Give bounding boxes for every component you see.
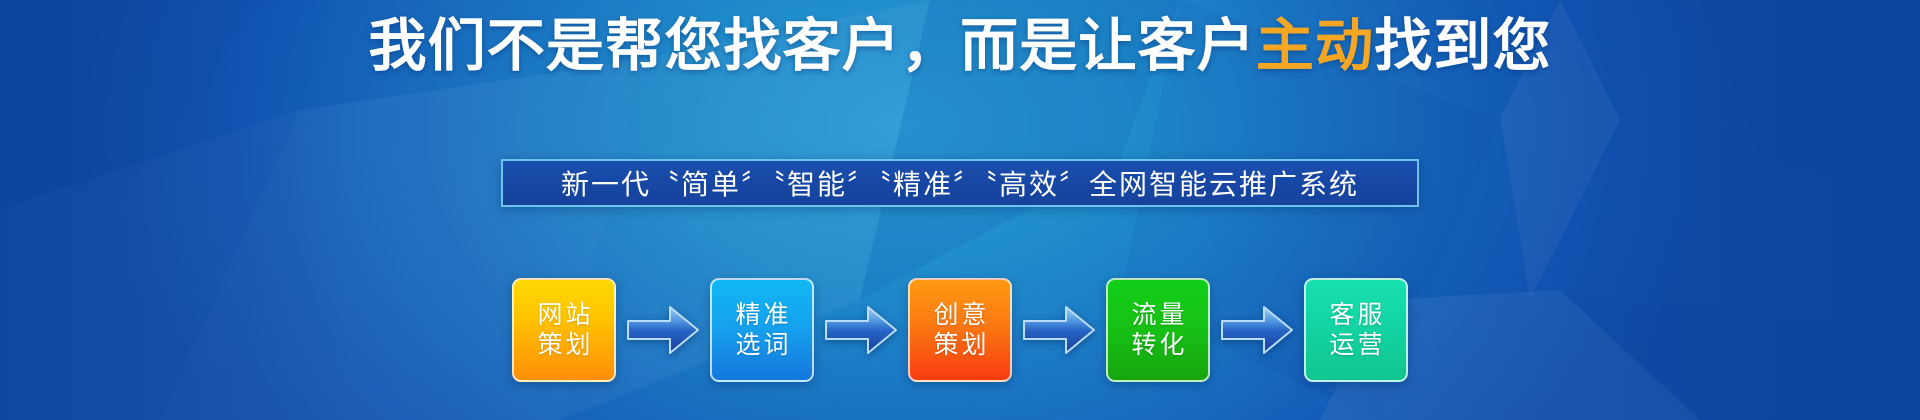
headline-text-before: 我们不是帮您找客户，而是让客户 xyxy=(368,13,1255,79)
right-arrow-icon xyxy=(1020,301,1098,359)
step-label-line2: 选词 xyxy=(732,330,791,361)
subtitle-text: 新一代〝简单〞〝智能〞〝精准〞〝高效〞全网智能云推广系统 xyxy=(561,163,1359,203)
right-arrow-icon xyxy=(624,301,702,359)
page-title: 我们不是帮您找客户，而是让客户主动找到您 xyxy=(368,18,1551,75)
promo-banner: 我们不是帮您找客户，而是让客户主动找到您 新一代〝简单〞〝智能〞〝精准〞〝高效〞… xyxy=(0,0,1920,420)
step-label-line2: 转化 xyxy=(1128,330,1187,361)
step-label-line2: 运营 xyxy=(1326,330,1385,361)
process-step-customer-service[interactable]: 客服 运营 xyxy=(1304,278,1408,382)
process-step-traffic-conversion[interactable]: 流量 转化 xyxy=(1106,278,1210,382)
process-step-keyword-selection[interactable]: 精准 选词 xyxy=(710,278,814,382)
step-label-line1: 客服 xyxy=(1326,300,1385,331)
headline-text-after: 找到您 xyxy=(1374,13,1551,79)
right-arrow-icon xyxy=(1218,301,1296,359)
step-label-line1: 精准 xyxy=(732,300,791,331)
step-label-line1: 流量 xyxy=(1128,300,1187,331)
headline-highlight: 主动 xyxy=(1256,13,1374,79)
headline-row: 我们不是帮您找客户，而是让客户主动找到您 xyxy=(0,18,1920,75)
right-arrow-icon xyxy=(822,301,900,359)
process-step-creative-planning[interactable]: 创意 策划 xyxy=(908,278,1012,382)
step-label-line1: 创意 xyxy=(930,300,989,331)
step-label-line2: 策划 xyxy=(930,330,989,361)
step-label-line2: 策划 xyxy=(534,330,593,361)
process-step-website-planning[interactable]: 网站 策划 xyxy=(512,278,616,382)
step-label-line1: 网站 xyxy=(534,300,593,331)
subtitle-band: 新一代〝简单〞〝智能〞〝精准〞〝高效〞全网智能云推广系统 xyxy=(501,159,1419,207)
process-flow: 网站 策划 精准 选词 xyxy=(0,278,1920,382)
